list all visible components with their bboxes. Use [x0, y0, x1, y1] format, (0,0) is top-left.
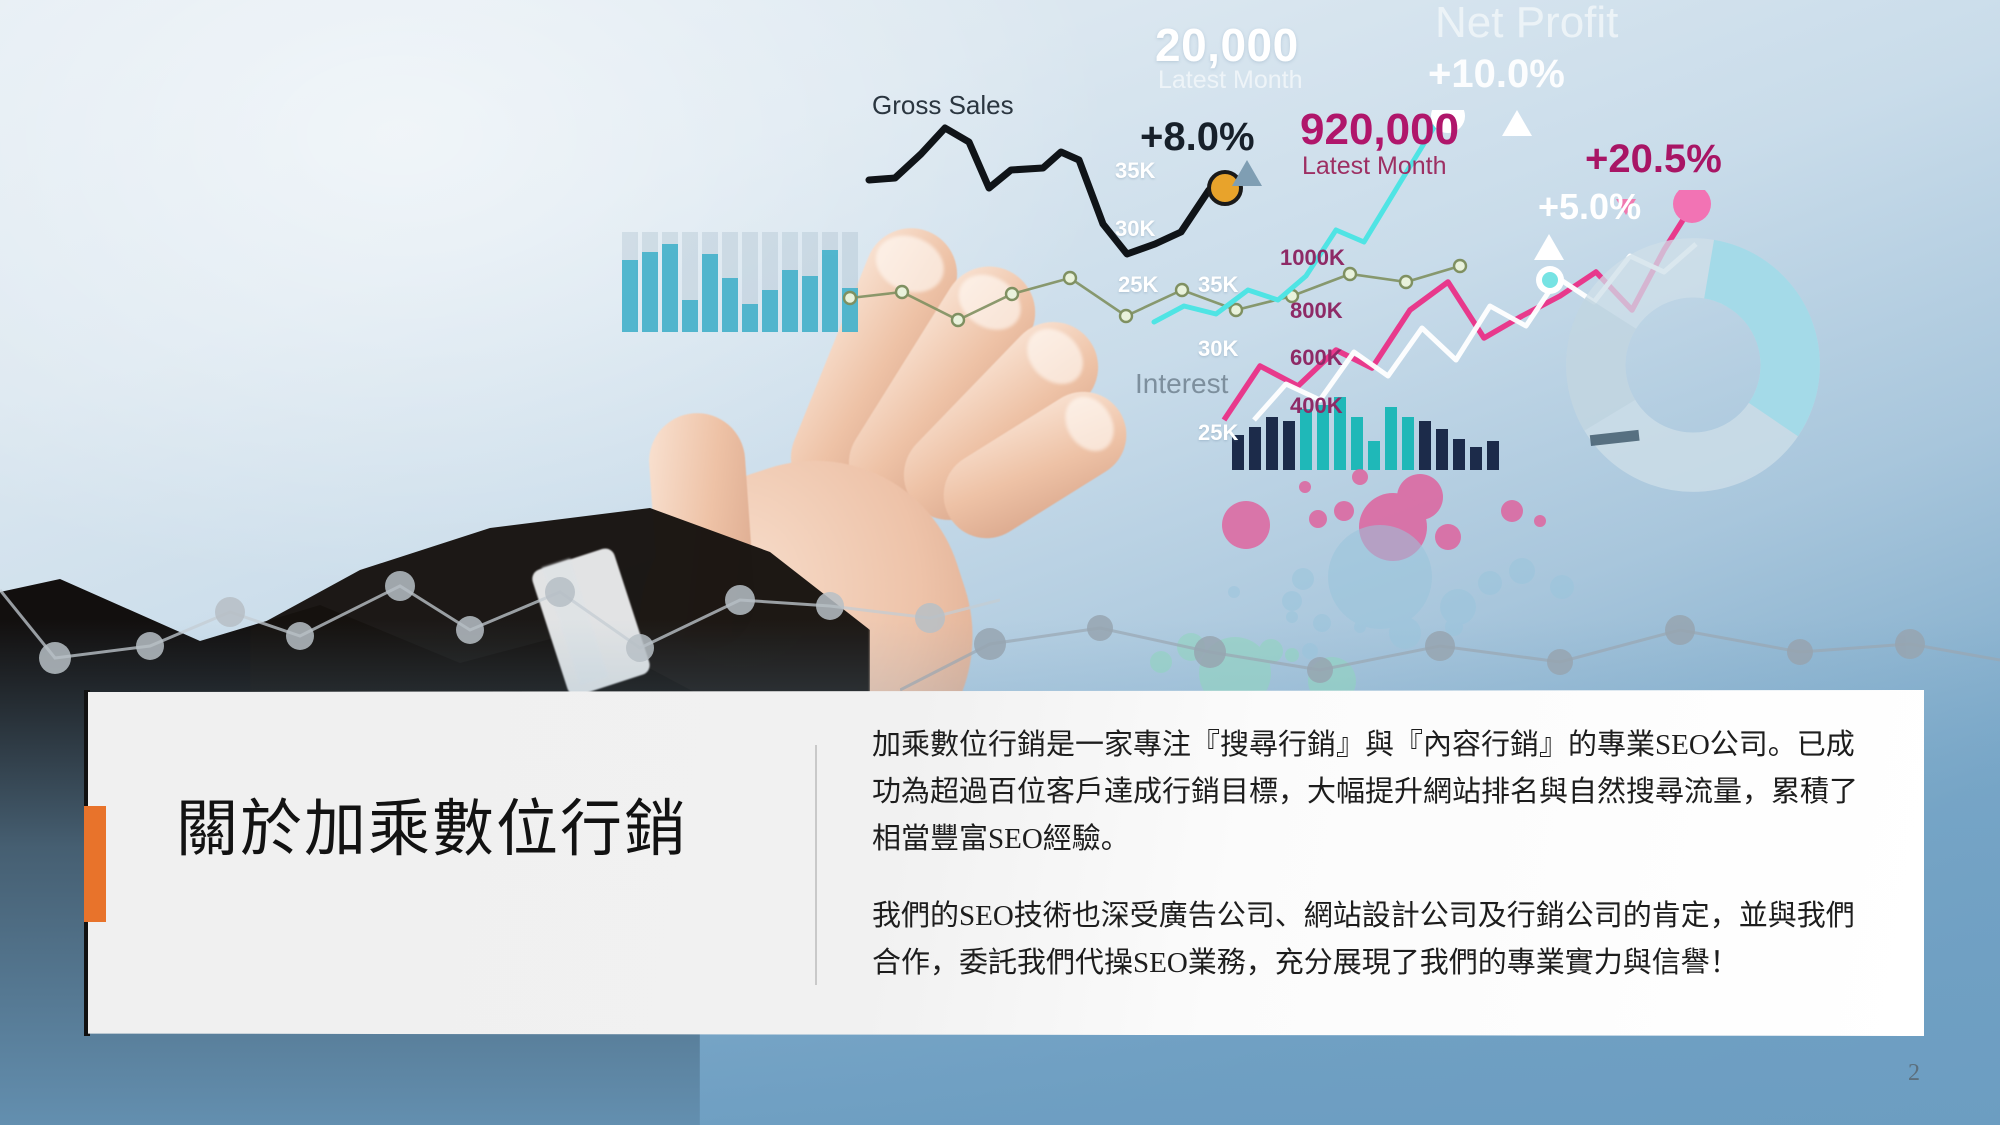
kpi-revenue-change: +20.5% [1585, 137, 1722, 182]
kpi-revenue-latest-value: 920,000 [1300, 105, 1459, 155]
axis-right-tick-800k: 800K [1290, 298, 1343, 324]
page-number: 2 [1908, 1060, 1920, 1087]
kpi-gross-sales-latest-caption: Latest Month [1158, 66, 1303, 95]
axis-right-tick-400k: 400K [1290, 393, 1343, 419]
axis-left-tick-30k: 30K [1115, 216, 1155, 242]
up-triangle-marker-grey [1230, 158, 1264, 188]
axis-right-tick-1000k: 1000K [1280, 245, 1345, 271]
kpi-interest-change: +5.0% [1538, 186, 1641, 228]
kpi-gross-sales-latest-value: 20,000 [1155, 18, 1299, 72]
vertical-divider [815, 745, 817, 985]
cyan-marker-dot [1528, 258, 1572, 298]
teal-bar-chart [620, 232, 860, 337]
axis-left-tick-25k: 25K [1118, 272, 1158, 298]
page-title: 關於加乘數位行銷 [176, 795, 746, 866]
slide: Gross Sales Interest 20,000 Latest Month… [0, 0, 2000, 1125]
axis-left-tick-35k: 35K [1115, 158, 1155, 184]
body-text: 加乘數位行銷是一家專注『搜尋行銷』與『內容行銷』的專業SEO公司。已成功為超過百… [872, 722, 1882, 987]
net-profit-label: Net Profit [1435, 0, 1618, 48]
donut-chart [1558, 230, 1828, 500]
axis-right-tick-600k: 600K [1290, 345, 1343, 371]
kpi-gross-sales-change: +8.0% [1140, 115, 1255, 160]
kpi-revenue-latest-caption: Latest Month [1302, 152, 1447, 181]
gross-sales-label: Gross Sales [872, 90, 1014, 121]
interest-label: Interest [1135, 368, 1228, 400]
paragraph-1: 加乘數位行銷是一家專注『搜尋行銷』與『內容行銷』的專業SEO公司。已成功為超過百… [872, 722, 1882, 863]
axis-mid-tick-35k: 35K [1198, 272, 1238, 298]
orange-accent-bar [84, 806, 106, 922]
axis-mid-tick-30k: 30K [1198, 336, 1238, 362]
paragraph-2: 我們的SEO技術也深受廣告公司、網站設計公司及行銷公司的肯定，並與我們合作，委託… [872, 893, 1882, 987]
kpi-net-profit-change: +10.0% [1428, 52, 1565, 97]
up-triangle-marker-white-a [1500, 108, 1534, 138]
axis-mid-tick-25k: 25K [1198, 420, 1238, 446]
